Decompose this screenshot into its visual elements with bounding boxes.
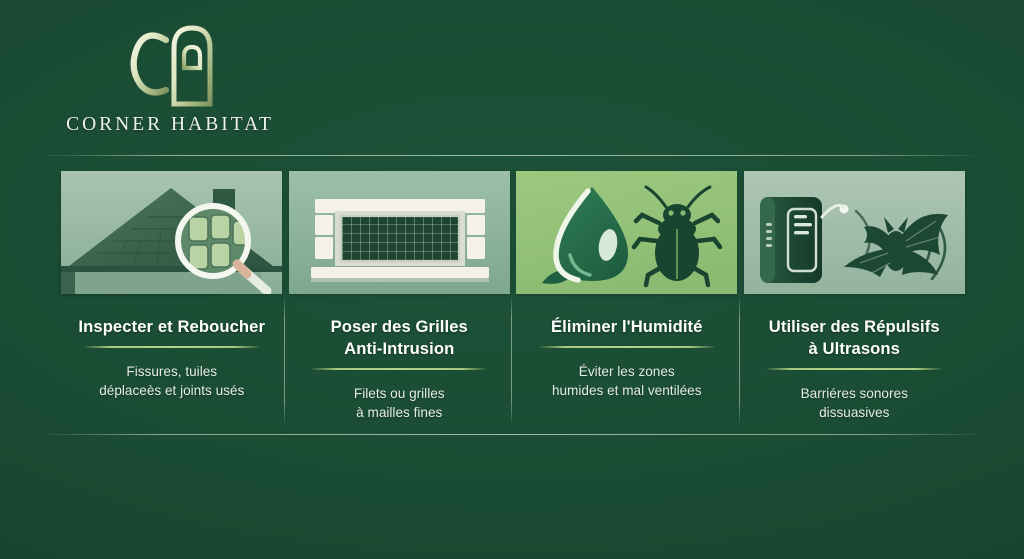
card-subtitle-line-2: à mailles fines [354, 403, 445, 422]
roof-magnifier-icon [61, 171, 282, 294]
ch-monogram-arch-logo [118, 18, 222, 110]
card-title-line-1: Poser des Grilles [331, 316, 468, 338]
card-text-block: Poser des Grilles Anti-Intrusion Filets … [286, 294, 514, 422]
card-poser-des-grilles: Poser des Grilles Anti-Intrusion Filets … [286, 171, 514, 429]
card-text-block: Éliminer l'Humidité Éviter les zones hum… [513, 294, 741, 400]
card-subtitle-line-1: Éviter les zones [552, 362, 702, 381]
card-subtitle: Fissures, tuiles déplaceès et joints usé… [99, 362, 244, 401]
card-subtitle-line-1: Fissures, tuiles [99, 362, 244, 381]
title-underline [312, 368, 486, 370]
card-text-block: Utiliser des Répulsifs à Ultrasons Barri… [741, 294, 969, 422]
card-title: Poser des Grilles Anti-Intrusion [331, 316, 468, 360]
infographic-root: CORNER HABITAT [0, 0, 1024, 559]
card-title: Inspecter et Reboucher [78, 316, 265, 338]
card-subtitle-line-2: dissuasives [801, 403, 908, 422]
brand-logo: CORNER HABITAT [50, 18, 290, 143]
card-repulsifs-ultrasons: Utiliser des Répulsifs à Ultrasons Barri… [741, 171, 969, 429]
card-subtitle-line-2: humides et mal ventilées [552, 381, 702, 400]
card-title-line-2: Anti-Intrusion [331, 338, 468, 360]
card-title-line-1: Utiliser des Répulsifs [769, 316, 940, 338]
brand-name: CORNER HABITAT [66, 114, 274, 136]
card-subtitle: Éviter les zones humides et mal ventilée… [552, 362, 702, 401]
title-underline [767, 368, 941, 370]
card-title: Utiliser des Répulsifs à Ultrasons [769, 316, 940, 360]
divider-top [46, 155, 976, 156]
card-title: Éliminer l'Humidité [551, 316, 703, 338]
divider-bottom [46, 434, 976, 435]
ultrasonic-repeller-bat-icon [744, 171, 965, 294]
card-subtitle: Barriéres sonores dissuasives [801, 384, 908, 423]
window-mesh-grille-icon [289, 171, 510, 294]
title-underline [85, 346, 259, 348]
title-underline [540, 346, 714, 348]
card-inspecter-et-reboucher: Inspecter et Reboucher Fissures, tuiles … [58, 171, 286, 429]
water-droplet-beetle-icon [516, 171, 737, 294]
card-subtitle-line-2: déplaceès et joints usés [99, 381, 244, 400]
card-title-line-2: à Ultrasons [769, 338, 940, 360]
card-eliminer-humidite: Éliminer l'Humidité Éviter les zones hum… [513, 171, 741, 429]
card-text-block: Inspecter et Reboucher Fissures, tuiles … [58, 294, 286, 400]
card-subtitle: Filets ou grilles à mailles fines [354, 384, 445, 423]
card-grid: Inspecter et Reboucher Fissures, tuiles … [58, 171, 968, 429]
card-subtitle-line-1: Filets ou grilles [354, 384, 445, 403]
card-subtitle-line-1: Barriéres sonores [801, 384, 908, 403]
